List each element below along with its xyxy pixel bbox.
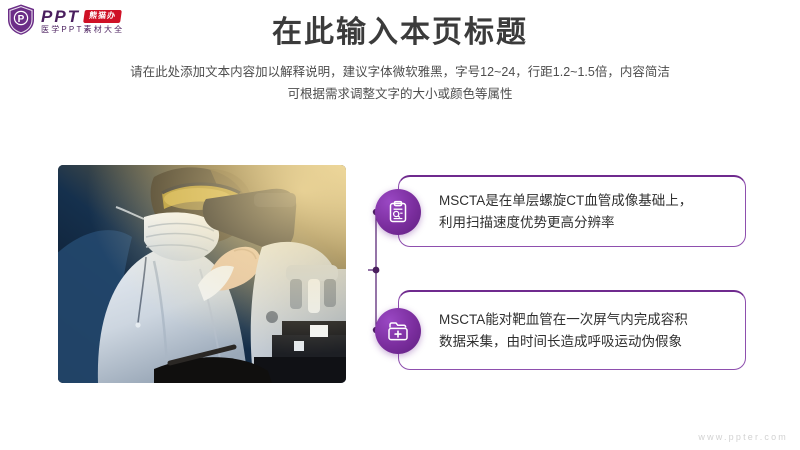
info-card-2-line-2: 数据采集，由时间长造成呼吸运动伪假象 (439, 331, 688, 353)
microscope-lab-photo (58, 165, 346, 383)
page-title: 在此输入本页标题 (0, 15, 800, 51)
folder-medical-icon (375, 308, 421, 354)
footer-watermark: www.ppter.com (698, 432, 788, 442)
info-card-1[interactable]: MSCTA是在单层螺旋CT血管成像基础上， 利用扫描速度优势更高分辨率 (398, 175, 746, 247)
page-subtitle: 请在此处添加文本内容加以解释说明，建议字体微软雅黑，字号12~24，行距1.2~… (0, 62, 800, 106)
subtitle-line-2: 可根据需求调整文字的大小或颜色等属性 (0, 84, 800, 106)
subtitle-line-1: 请在此处添加文本内容加以解释说明，建议字体微软雅黑，字号12~24，行距1.2~… (0, 62, 800, 84)
info-card-1-line-2: 利用扫描速度优势更高分辨率 (439, 212, 692, 234)
info-card-2[interactable]: MSCTA能对靶血管在一次屏气内完成容积 数据采集，由时间长造成呼吸运动伪假象 (398, 290, 746, 370)
info-card-2-line-1: MSCTA能对靶血管在一次屏气内完成容积 (439, 309, 688, 331)
clipboard-report-icon (375, 189, 421, 235)
info-card-2-text: MSCTA能对靶血管在一次屏气内完成容积 数据采集，由时间长造成呼吸运动伪假象 (439, 309, 688, 353)
info-card-1-line-1: MSCTA是在单层螺旋CT血管成像基础上， (439, 190, 692, 212)
info-card-1-text: MSCTA是在单层螺旋CT血管成像基础上， 利用扫描速度优势更高分辨率 (439, 190, 692, 234)
